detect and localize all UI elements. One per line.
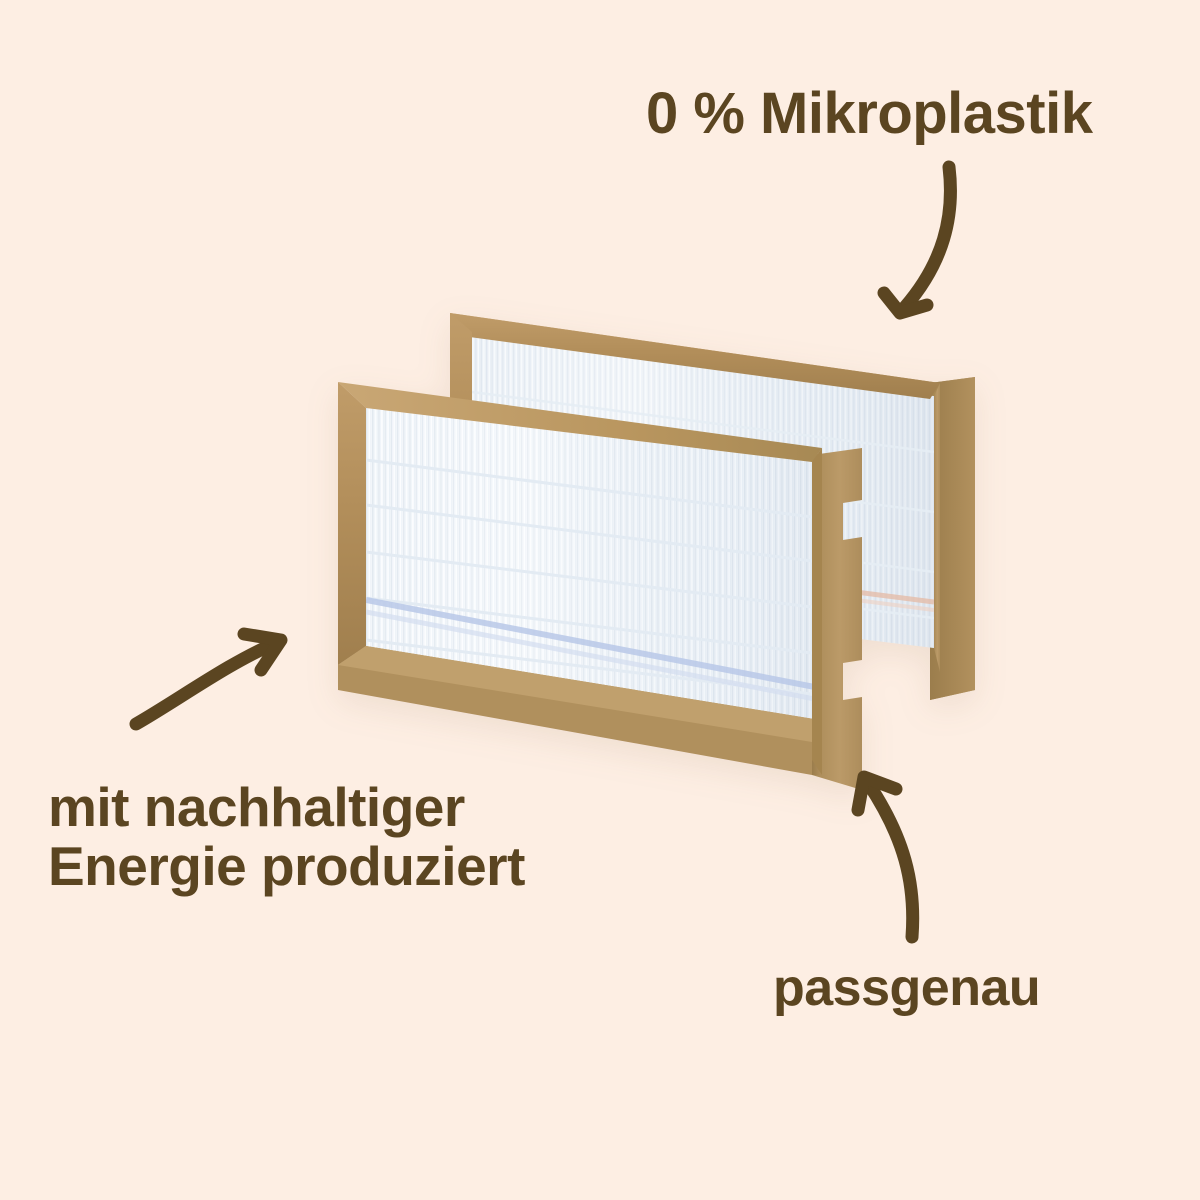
curved-arrow-up-right-icon [118,596,318,766]
label-sustainable-energy: mit nachhaltiger Energie produziert [48,778,525,897]
curved-arrow-down-icon [845,155,995,345]
front-filter [338,382,862,790]
label-zero-microplastic: 0 % Mikroplastik [646,84,1092,143]
promo-graphic: 0 % Mikroplastik mit nachhaltiger Energi… [0,0,1200,1200]
label-perfect-fit: passgenau [773,962,1040,1015]
curved-arrow-up-left-icon [820,755,970,955]
